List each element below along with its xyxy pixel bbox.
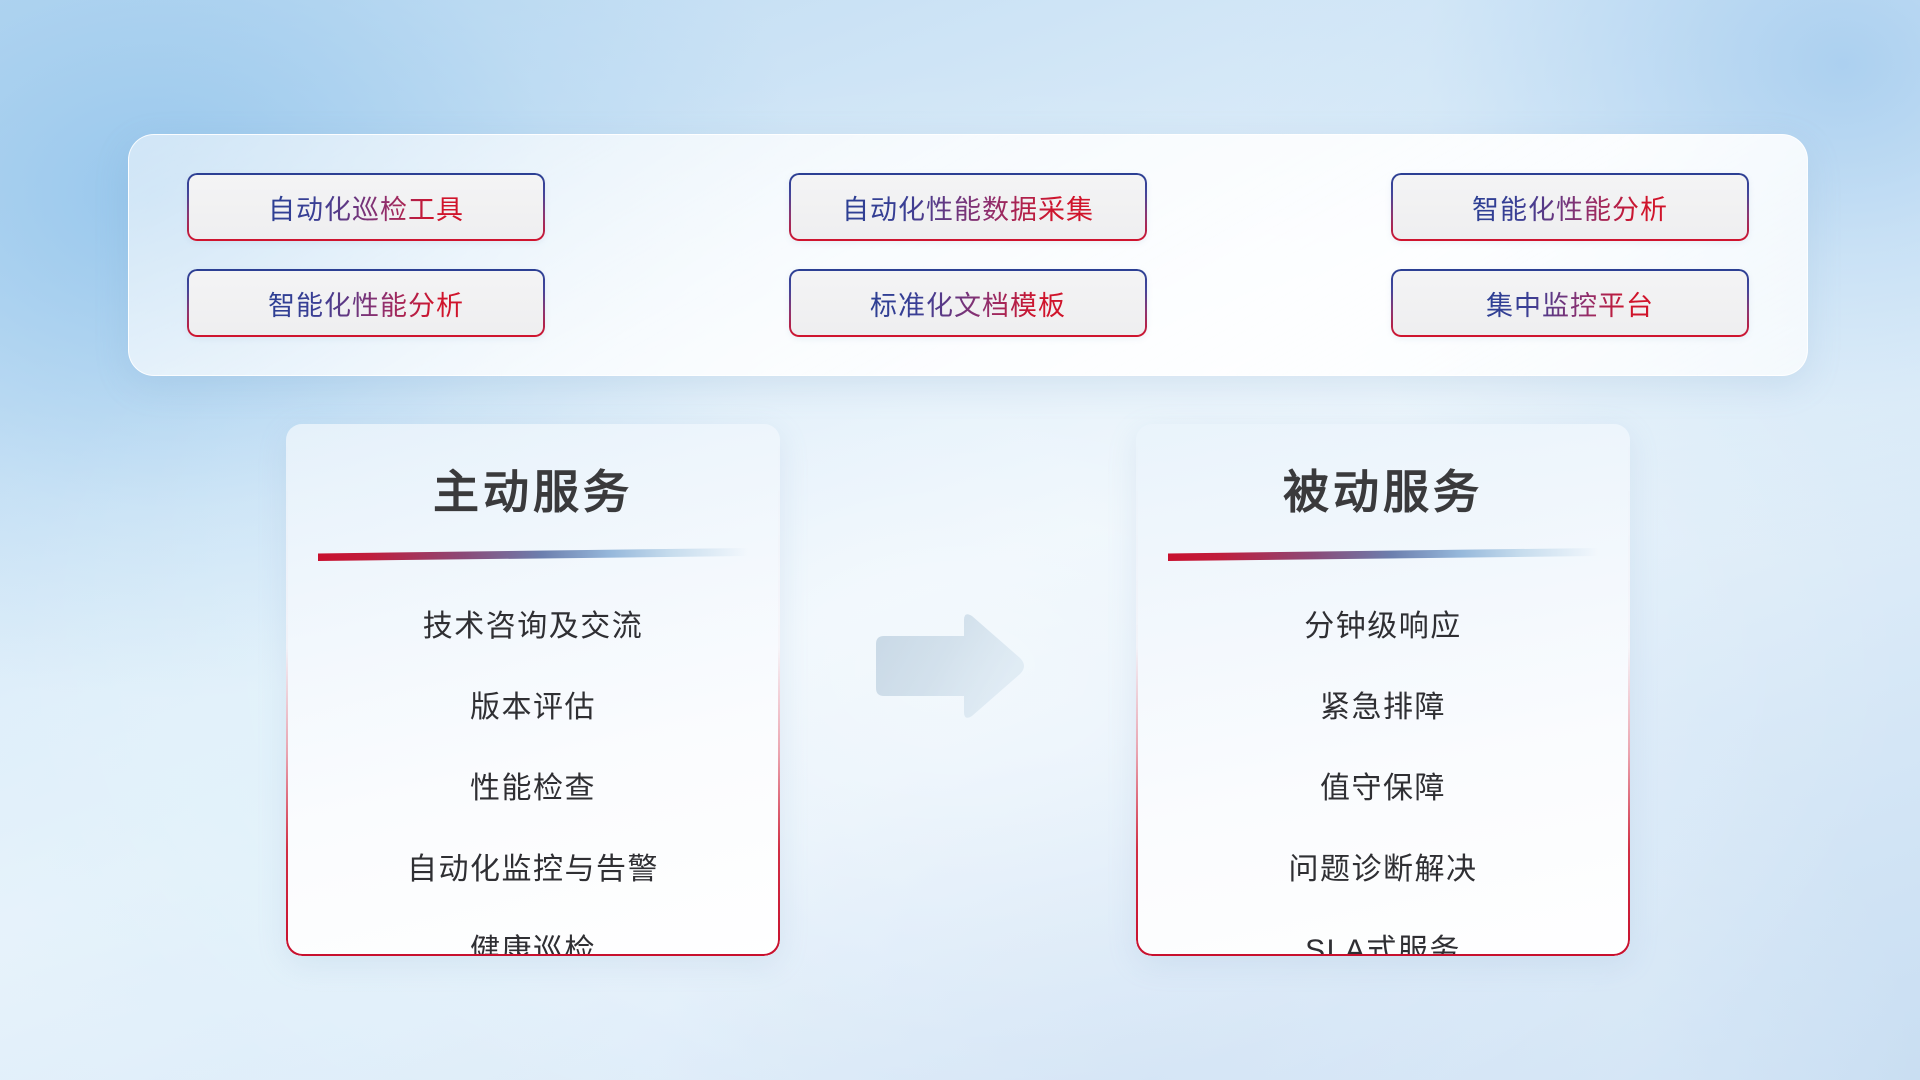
arrow-right-icon [868,610,1028,722]
tag-label: 自动化性能数据采集 [842,188,1094,227]
list-item[interactable]: 性能检查 [470,763,596,807]
card-title-divider [318,548,748,561]
tag-centralized-monitoring-platform[interactable]: 集中监控平台 [1391,269,1749,337]
list-item[interactable]: 版本评估 [470,682,596,726]
list-item[interactable]: SLA式服务 [1305,925,1461,956]
divider-bar [318,548,748,561]
card-item-list: 技术咨询及交流 版本评估 性能检查 自动化监控与告警 健康巡检 [286,601,780,956]
list-item[interactable]: 技术咨询及交流 [423,601,644,645]
card-title-divider [1168,548,1598,561]
card-title: 被动服务 [1136,456,1630,522]
tag-intelligent-performance-analysis-2[interactable]: 智能化性能分析 [187,269,545,337]
tag-label: 集中监控平台 [1486,284,1654,323]
service-card-active: 主动服务 技术咨询及交流 版本评估 性能检查 自动化监控与告警 健康巡检 [286,424,780,956]
tag-label: 自动化巡检工具 [268,188,464,227]
tag-standardized-document-template[interactable]: 标准化文档模板 [789,269,1147,337]
list-item[interactable]: 问题诊断解决 [1289,844,1478,888]
tag-row-1: 自动化巡检工具 自动化性能数据采集 智能化性能分析 [187,173,1749,241]
card-item-list: 分钟级响应 紧急排障 值守保障 问题诊断解决 SLA式服务 [1136,601,1630,956]
tag-automation-inspection-tool[interactable]: 自动化巡检工具 [187,173,545,241]
divider-bar [1168,548,1598,561]
tag-label: 智能化性能分析 [1472,188,1668,227]
service-card-passive: 被动服务 分钟级响应 紧急排障 值守保障 问题诊断解决 SLA式服务 [1136,424,1630,956]
tag-label: 智能化性能分析 [268,284,464,323]
tag-automation-performance-data-collection[interactable]: 自动化性能数据采集 [789,173,1147,241]
list-item[interactable]: 紧急排障 [1320,682,1446,726]
list-item[interactable]: 分钟级响应 [1304,601,1462,645]
card-title: 主动服务 [286,456,780,522]
tag-row-2: 智能化性能分析 标准化文档模板 集中监控平台 [187,269,1749,337]
list-item[interactable]: 自动化监控与告警 [407,844,659,888]
list-item[interactable]: 值守保障 [1320,763,1446,807]
capability-tag-panel: 自动化巡检工具 自动化性能数据采集 智能化性能分析 智能化性能分析 标准化文档模… [128,134,1808,376]
list-item[interactable]: 健康巡检 [470,925,596,956]
tag-label: 标准化文档模板 [870,284,1066,323]
tag-intelligent-performance-analysis[interactable]: 智能化性能分析 [1391,173,1749,241]
